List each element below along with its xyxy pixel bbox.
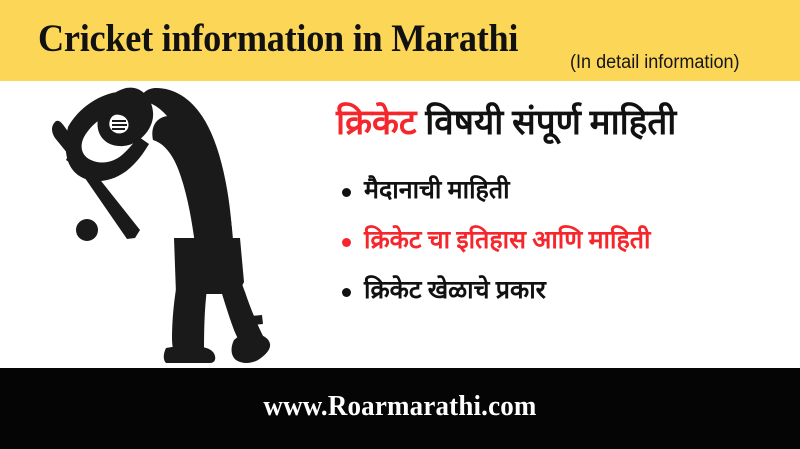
list-item: क्रिकेट खेळाचे प्रकार xyxy=(336,266,798,316)
batsman-grille-bars-shape xyxy=(112,120,127,130)
text-column: क्रिकेट विषयी संपूर्ण माहिती मैदानाची मा… xyxy=(336,100,798,316)
website-url: www.Roarmarathi.com xyxy=(28,389,772,423)
header-subtitle: (In detail information) xyxy=(570,52,740,74)
footer-bar: www.Roarmarathi.com xyxy=(0,368,800,449)
cricket-batsman-illustration xyxy=(8,82,338,369)
topic-list: मैदानाची माहिती क्रिकेट चा इतिहास आणि मा… xyxy=(336,166,798,316)
heading-accent-word: क्रिकेट xyxy=(336,103,416,142)
poster-canvas: Cricket information in Marathi (In detai… xyxy=(0,0,800,449)
page-title: Cricket information in Marathi xyxy=(38,17,518,61)
batsman-shoe-spike-shape xyxy=(251,315,263,325)
list-item: मैदानाची माहिती xyxy=(336,166,798,216)
heading-rest-text: विषयी संपूर्ण माहिती xyxy=(416,103,676,142)
batsman-back-foot-shape xyxy=(232,334,271,363)
cricket-ball-shape xyxy=(76,219,98,241)
header-band: Cricket information in Marathi (In detai… xyxy=(0,0,800,81)
list-item: क्रिकेट चा इतिहास आणि माहिती xyxy=(336,216,798,266)
marathi-heading: क्रिकेट विषयी संपूर्ण माहिती xyxy=(336,100,798,146)
batsman-front-foot-shape xyxy=(164,346,216,363)
